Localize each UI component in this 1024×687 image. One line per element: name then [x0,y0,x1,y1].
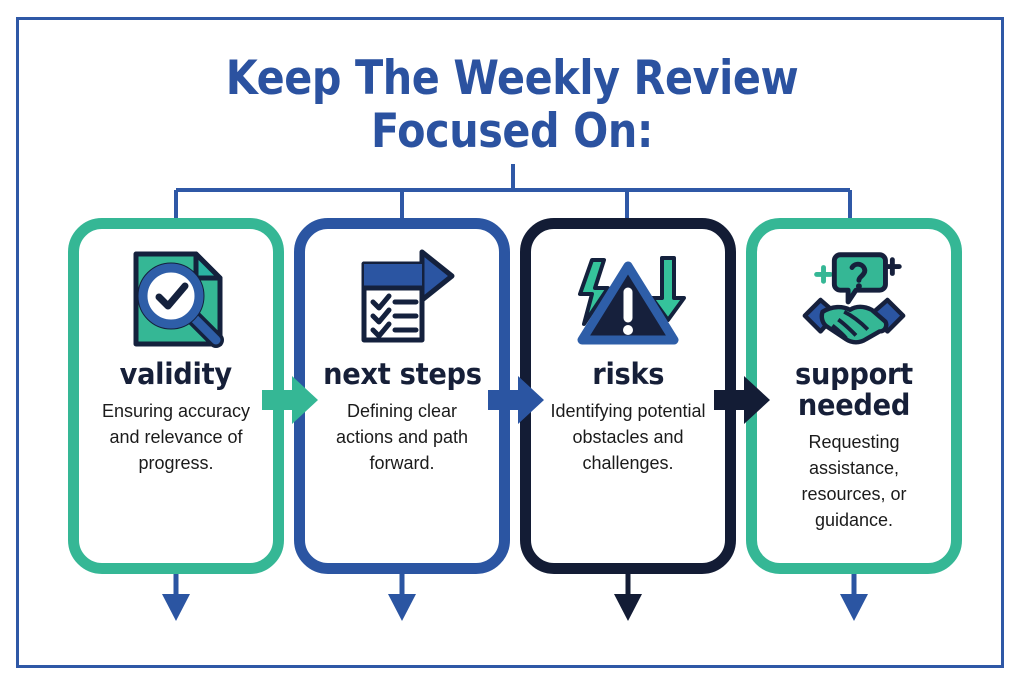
arrow-validity-to-next-steps [262,372,320,428]
arrow-risks-to-support-needed [714,372,772,428]
card-title-risks: risks [592,359,664,390]
warning-triangle-icon [569,245,687,355]
card-risks[interactable]: risks Identifying potential obstacles an… [520,218,736,574]
page-title-line-1: Keep The Weekly Review [61,52,962,105]
card-title-support-needed: support needed [772,359,936,421]
checklist-arrow-icon [343,245,461,355]
down-arrow-risks [611,574,645,624]
card-title-next-steps: next steps [323,359,482,390]
card-description-support-needed: Requesting assistance, resources, or gui… [768,429,940,533]
card-next-steps[interactable]: next steps Defining clear actions and pa… [294,218,510,574]
card-description-risks: Identifying potential obstacles and chal… [542,398,714,476]
card-description-next-steps: Defining clear actions and path forward. [316,398,488,476]
infographic-canvas: Keep The Weekly Review Focused On: [0,0,1024,687]
down-arrow-support-needed [837,574,871,624]
handshake-question-icon [795,245,913,355]
card-validity[interactable]: validity Ensuring accuracy and relevance… [68,218,284,574]
card-description-validity: Ensuring accuracy and relevance of progr… [90,398,262,476]
card-title-validity: validity [120,359,232,390]
arrow-next-steps-to-risks [488,372,546,428]
card-support-needed[interactable]: support needed Requesting assistance, re… [746,218,962,574]
down-arrow-validity [159,574,193,624]
page-title-line-2: Focused On: [61,105,962,158]
document-magnifier-check-icon [117,245,235,355]
down-arrow-next-steps [385,574,419,624]
page-title: Keep The Weekly Review Focused On: [0,52,1024,158]
